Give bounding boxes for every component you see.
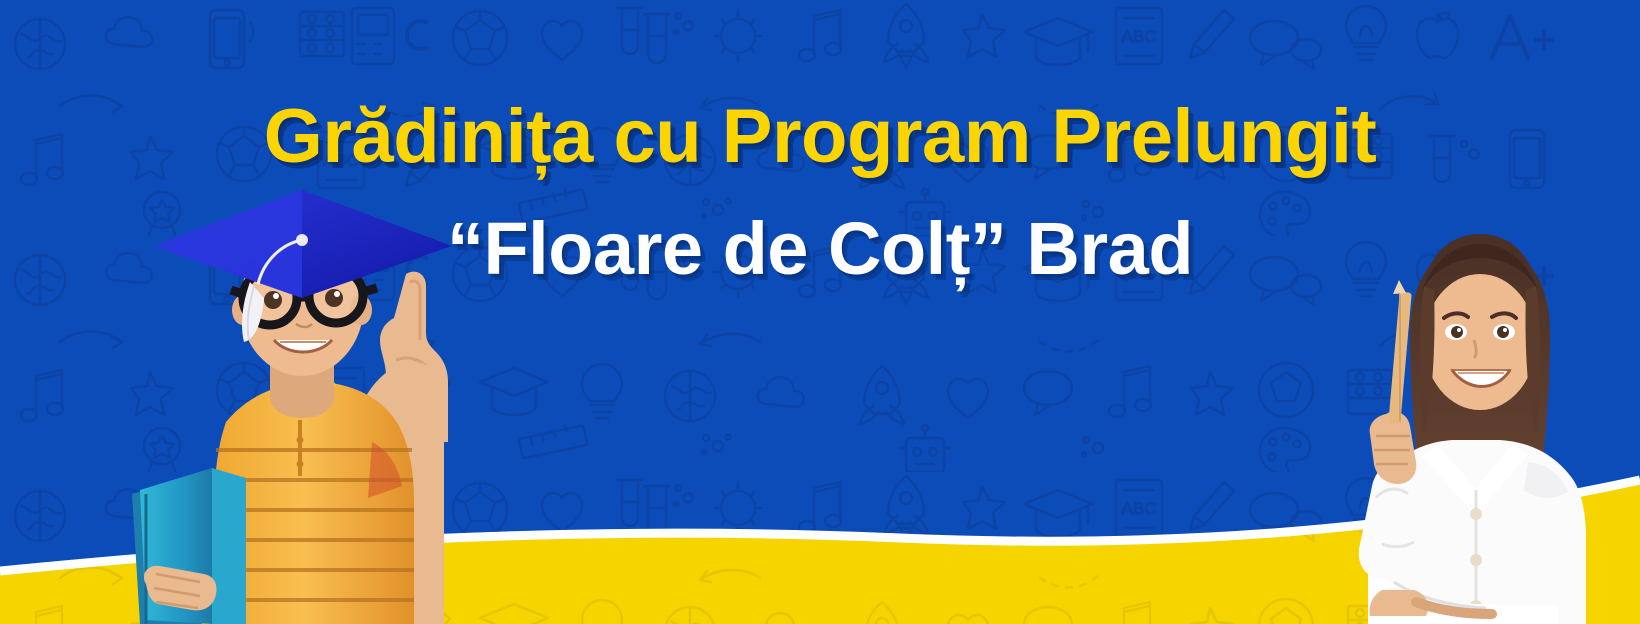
girl-face xyxy=(1424,274,1536,410)
boy-holding-book xyxy=(132,468,246,624)
girl-with-pencil-photo xyxy=(1290,214,1640,624)
kindergarten-hero-banner: ABC xyxy=(0,0,1640,624)
boy-with-graduation-cap-photo xyxy=(110,154,520,624)
girl-pencil xyxy=(1388,280,1411,424)
